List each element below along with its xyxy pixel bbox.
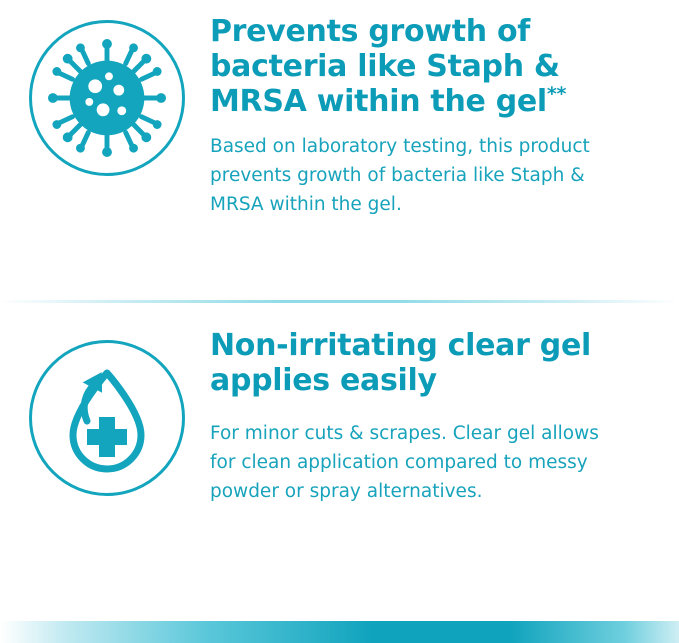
feature-text-column: Prevents growth of bacteria like Staph &… (192, 14, 659, 219)
feature-title: Prevents growth of bacteria like Staph &… (210, 14, 630, 119)
feature-title: Non-irritating clear gel applies easily (210, 328, 630, 398)
feature-body: For minor cuts & scrapes. Clear gel allo… (210, 420, 622, 506)
feature-title-text: Non-irritating clear gel applies easily (210, 328, 591, 398)
feature-body: Based on laboratory testing, this produc… (210, 133, 622, 219)
feature-block-bacteria: Prevents growth of bacteria like Staph &… (0, 0, 679, 296)
feature-text-column: Non-irritating clear gel applies easily … (192, 328, 659, 506)
gel-droplet-cross-icon (29, 340, 185, 496)
virus-icon (29, 20, 185, 176)
feature-title-footnote: ** (547, 83, 566, 105)
feature-title-text: Prevents growth of bacteria like Staph &… (210, 14, 560, 119)
feature-icon-column (22, 14, 192, 176)
feature-block-clear-gel: Non-irritating clear gel applies easily … (0, 296, 679, 596)
feature-icon-column (22, 328, 192, 496)
section-divider (0, 300, 679, 303)
feature-panel: Prevents growth of bacteria like Staph &… (0, 0, 679, 643)
bottom-accent-bar (0, 621, 679, 643)
